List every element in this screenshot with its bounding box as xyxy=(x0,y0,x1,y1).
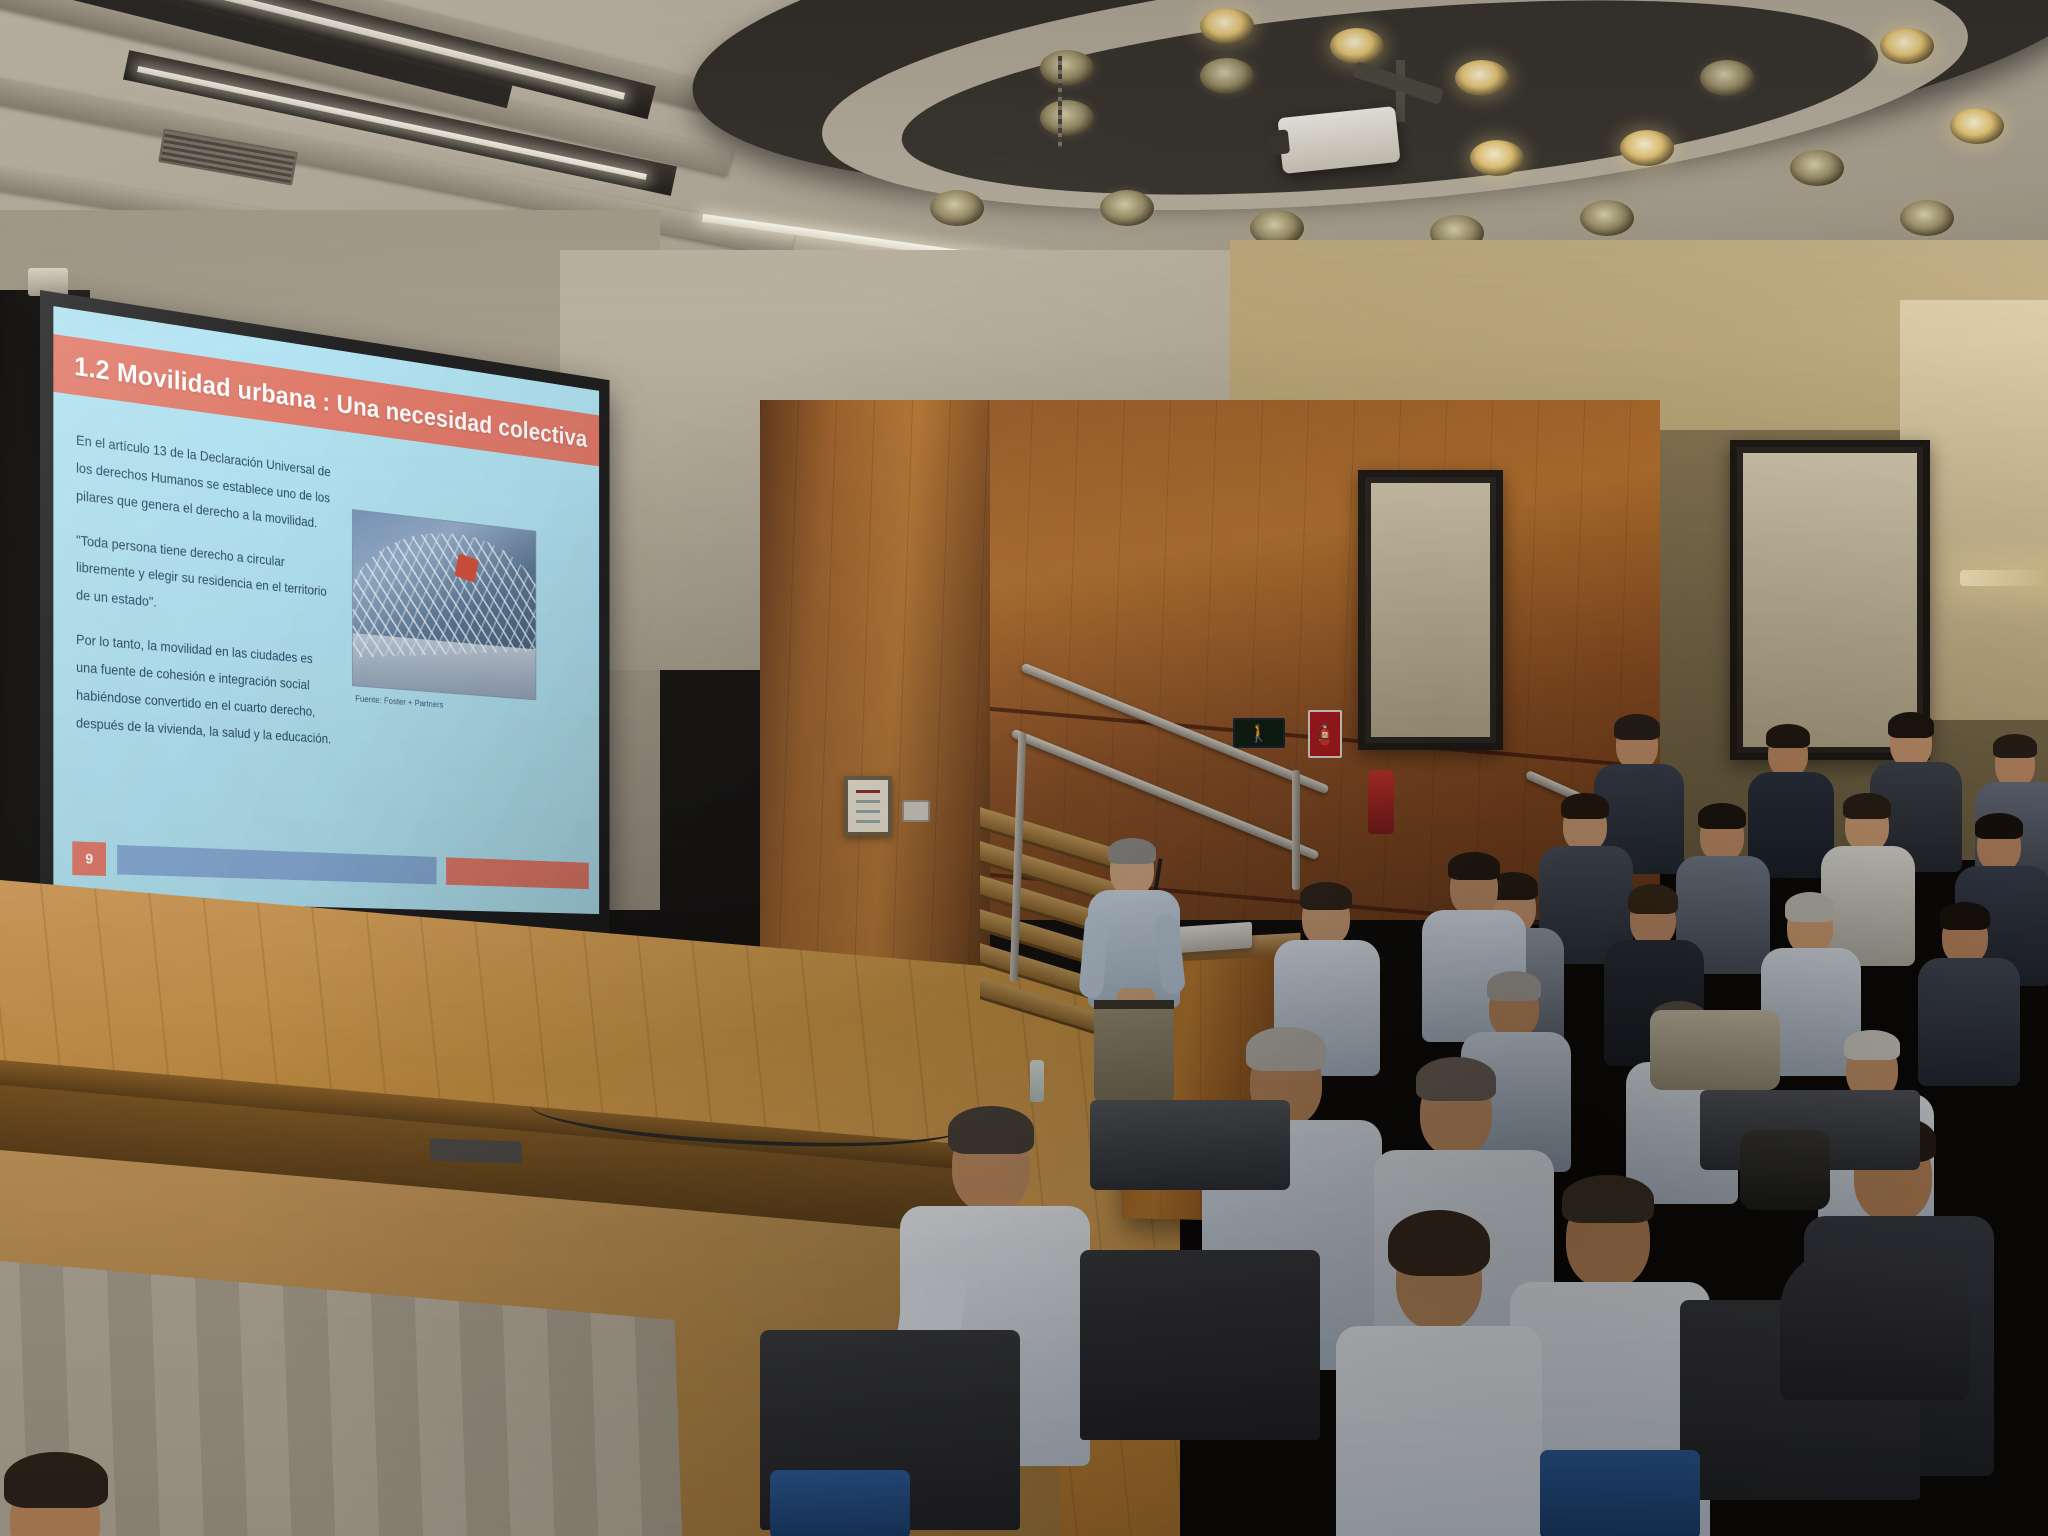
frame-mat xyxy=(1371,483,1490,737)
slide-body-text: En el artículo 13 de la Declaración Univ… xyxy=(76,427,334,769)
person-hair xyxy=(1246,1027,1326,1071)
frame-mat xyxy=(1743,453,1917,747)
person-hair xyxy=(1785,892,1835,922)
person-hair xyxy=(1416,1057,1496,1101)
person-hair xyxy=(1448,852,1500,880)
person-hair xyxy=(1844,1030,1900,1060)
wall-display-frame xyxy=(1358,470,1503,750)
auditorium-chair[interactable] xyxy=(1780,1250,1970,1400)
ceiling-downlight xyxy=(1330,28,1384,64)
slide-paragraph-1: En el artículo 13 de la Declaración Univ… xyxy=(76,427,334,539)
auditorium-row-back xyxy=(1090,1100,1290,1190)
presenter-trousers xyxy=(1094,1002,1174,1102)
ceiling-downlight xyxy=(1900,200,1954,236)
emergency-exit-sign: 🚶 xyxy=(1233,718,1285,748)
projection-screen[interactable]: 1.2 Movilidad urbana : Una necesidad col… xyxy=(40,290,609,976)
illustration-lattice-roof xyxy=(352,533,536,658)
ceiling-downlight xyxy=(1200,8,1254,44)
person-hair xyxy=(948,1106,1034,1154)
person-hair xyxy=(1766,724,1810,748)
ceiling-downlight xyxy=(1620,130,1674,166)
ceiling-downlight xyxy=(1880,28,1934,64)
wall-outlet xyxy=(902,800,930,822)
person-hair xyxy=(1487,971,1541,1001)
person-hair xyxy=(1628,884,1678,914)
slide-page-number: 9 xyxy=(72,841,106,876)
slide-paragraph-2: "Toda persona tiene derecho a circular l… xyxy=(76,526,334,632)
presentation-slide: 1.2 Movilidad urbana : Una necesidad col… xyxy=(53,306,599,914)
person-hair xyxy=(1975,813,2023,839)
auditorium-chair[interactable] xyxy=(1080,1250,1320,1440)
ceiling-downlight xyxy=(930,190,984,226)
ceiling-downlight xyxy=(1950,108,2004,144)
person-hair xyxy=(1843,793,1891,819)
person-hair xyxy=(4,1452,108,1508)
handrail-post xyxy=(1292,770,1300,890)
slide-footer-bar-blue xyxy=(117,845,436,884)
person-hair xyxy=(1698,803,1746,829)
ceiling-downlight xyxy=(1040,50,1094,86)
slide-footer: 9 xyxy=(53,841,599,892)
auditorium-photo: 🚶 🧯 1.2 Movilidad urbana : Una necesidad… xyxy=(0,0,2048,1536)
person-hair xyxy=(1562,1175,1654,1223)
ceiling-downlight xyxy=(1455,60,1509,96)
ceiling-downlight xyxy=(1200,58,1254,94)
fire-extinguisher-sign: 🧯 xyxy=(1308,710,1342,758)
auditorium-chair[interactable] xyxy=(1540,1450,1700,1536)
slide-paragraph-3: Por lo tanto, la movilidad en las ciudad… xyxy=(76,626,334,752)
person-hair xyxy=(1561,793,1609,819)
pendant-chain xyxy=(1058,56,1062,148)
presenter-hair xyxy=(1108,838,1156,864)
ceiling-downlight xyxy=(1790,150,1844,186)
ceiling-downlight xyxy=(1100,190,1154,226)
presenter-belt xyxy=(1094,1000,1174,1009)
person-torso xyxy=(1918,958,2020,1086)
running-man-icon: 🚶 xyxy=(1248,725,1269,742)
person-hair xyxy=(1300,882,1352,910)
person-hair xyxy=(1614,714,1660,740)
slide-illustration xyxy=(352,509,536,700)
person-hair xyxy=(1388,1210,1490,1276)
coat-on-seat xyxy=(1650,1010,1780,1090)
person-torso xyxy=(1336,1326,1542,1536)
water-bottle xyxy=(1030,1060,1044,1102)
ceiling-downlight xyxy=(1470,140,1524,176)
ceiling-downlight xyxy=(1700,60,1754,96)
floor-connection-box xyxy=(429,1138,522,1163)
wall-sconce-light xyxy=(1960,570,2048,586)
auditorium-chair[interactable] xyxy=(770,1470,910,1536)
fire-extinguisher xyxy=(1368,770,1394,834)
ceiling-downlight xyxy=(1580,200,1634,236)
person-hair xyxy=(1888,712,1934,738)
wall-notice-plaque xyxy=(844,776,892,836)
extinguisher-icon: 🧯 xyxy=(1312,724,1338,745)
wall-display-frame xyxy=(1730,440,1930,760)
ceiling-downlight xyxy=(1040,100,1094,136)
backpack xyxy=(1740,1130,1830,1210)
person-hair xyxy=(1940,902,1990,930)
slide-footer-bar-coral xyxy=(446,857,589,889)
person-hair xyxy=(1993,734,2037,758)
